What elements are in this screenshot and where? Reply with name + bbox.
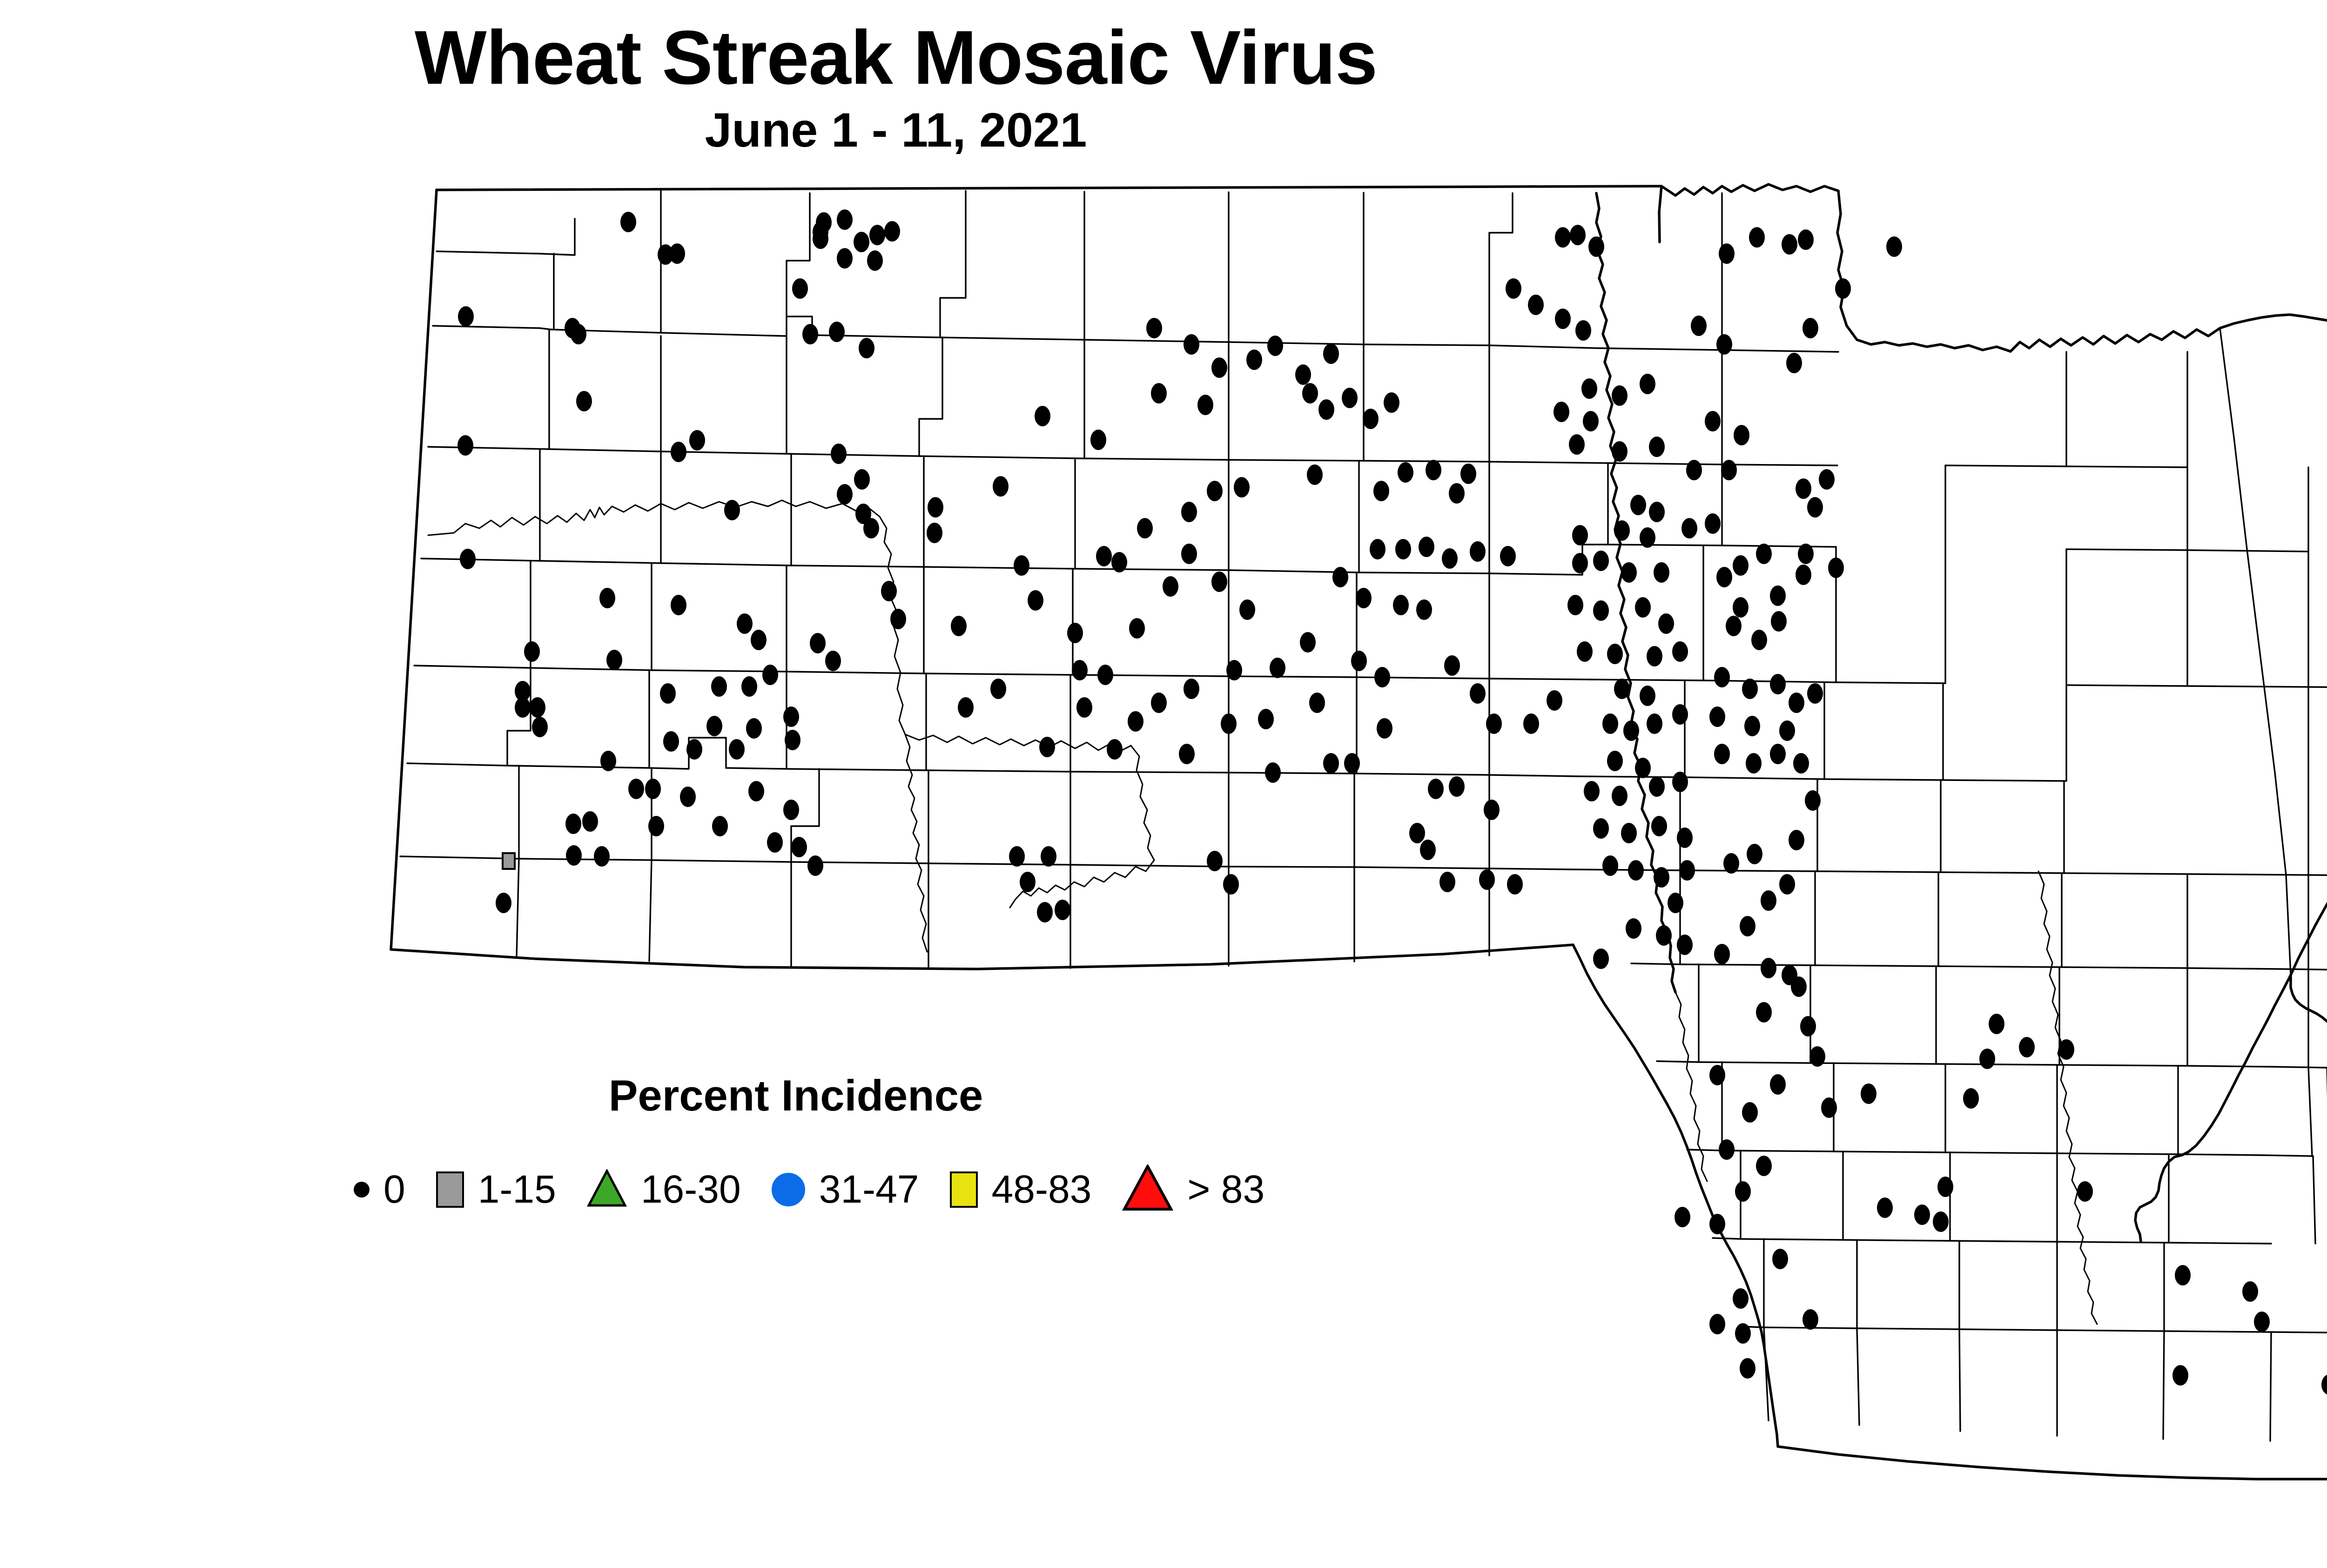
legend-items: 0 1-15 16-30 31-47 48-83	[354, 1164, 1610, 1214]
map-marker	[1207, 481, 1223, 501]
map-marker	[1020, 872, 1036, 892]
map-marker	[854, 469, 870, 490]
map-marker	[1554, 402, 1569, 422]
map-marker	[1877, 1198, 1893, 1218]
map-marker	[1295, 364, 1311, 385]
map-marker	[1420, 840, 1436, 860]
legend-item-gt-83[interactable]: > 83	[1122, 1164, 1264, 1214]
map-marker	[599, 588, 615, 608]
map-marker	[1181, 544, 1197, 564]
map-marker	[1756, 544, 1772, 564]
map-marker	[1270, 658, 1285, 678]
map-marker	[1211, 357, 1227, 378]
map-marker	[1151, 383, 1167, 404]
map-marker	[1651, 816, 1667, 836]
map-marker	[671, 442, 686, 462]
triangle-red-icon	[1122, 1164, 1173, 1214]
map-marker	[2242, 1281, 2258, 1302]
map-marker	[1612, 441, 1628, 462]
map-marker	[1756, 1002, 1772, 1023]
map-marker	[1318, 399, 1334, 420]
map-marker	[1621, 823, 1637, 843]
map-marker	[1709, 1214, 1725, 1234]
map-marker	[1377, 718, 1392, 739]
map-marker	[1234, 477, 1250, 498]
legend-item-16-30[interactable]: 16-30	[587, 1167, 741, 1212]
map-marker	[1821, 1097, 1837, 1118]
map-marker	[1593, 949, 1609, 969]
map-marker	[1470, 541, 1486, 562]
map-marker	[1740, 1358, 1755, 1379]
map-marker	[802, 324, 818, 344]
map-marker	[1373, 481, 1389, 501]
map-marker	[1786, 353, 1802, 373]
map-marker	[1332, 567, 1348, 587]
map-marker	[1184, 679, 1199, 699]
map-marker	[1302, 383, 1318, 404]
map-marker	[1344, 753, 1360, 774]
legend-item-0[interactable]: 0	[354, 1167, 405, 1212]
map-marker	[1751, 630, 1767, 650]
map-marker	[928, 497, 943, 518]
map-marker	[1223, 874, 1239, 895]
map-marker	[1444, 655, 1460, 676]
map-marker	[1716, 334, 1732, 355]
circle-small-icon	[354, 1182, 370, 1198]
legend-label-31-47: 31-47	[819, 1167, 919, 1212]
markers-layer	[457, 209, 2327, 1409]
map-marker	[1886, 236, 1902, 257]
map-marker	[576, 391, 592, 411]
map-marker	[1035, 406, 1050, 426]
map-marker	[1129, 618, 1145, 639]
map-marker	[1963, 1088, 1979, 1109]
legend-item-31-47[interactable]: 31-47	[772, 1167, 919, 1212]
map-marker	[927, 523, 942, 543]
map-marker	[1028, 590, 1043, 611]
map-marker	[825, 651, 841, 671]
map-marker	[1742, 679, 1758, 699]
map-marker	[1137, 518, 1153, 538]
map-marker	[1439, 872, 1455, 892]
map-marker	[1734, 425, 1749, 445]
map-marker	[1146, 318, 1162, 338]
map-marker	[1039, 737, 1055, 757]
map-marker	[1691, 316, 1707, 336]
map-marker	[785, 730, 800, 750]
map-marker	[1181, 502, 1197, 522]
map-marker	[783, 800, 799, 820]
map-marker	[706, 716, 722, 736]
map-marker	[1807, 497, 1823, 518]
map-marker	[1714, 744, 1730, 764]
map-marker	[1614, 679, 1630, 699]
map-marker	[1572, 553, 1588, 573]
map-marker	[1779, 874, 1795, 895]
map-marker	[1583, 411, 1599, 431]
map-marker	[1623, 720, 1639, 741]
map-marker	[628, 779, 644, 799]
map-marker	[712, 816, 728, 836]
map-marker	[1861, 1083, 1876, 1104]
map-marker	[1506, 278, 1521, 299]
map-marker	[1640, 686, 1655, 706]
map-marker	[2321, 1374, 2327, 1395]
map-marker	[680, 787, 696, 807]
triangle-green-icon	[587, 1169, 627, 1210]
map-marker	[496, 893, 511, 913]
map-marker	[1442, 548, 1458, 569]
map-marker	[524, 641, 540, 662]
map-marker	[813, 222, 828, 242]
map-marker	[1370, 539, 1385, 559]
legend-label-16-30: 16-30	[641, 1167, 741, 1212]
map-marker	[807, 855, 823, 876]
map-marker	[1819, 469, 1835, 490]
map-marker	[1782, 234, 1797, 255]
map-marker	[1090, 430, 1106, 450]
map-marker	[1072, 660, 1088, 680]
map-marker	[1221, 713, 1237, 734]
map-marker	[1709, 1065, 1725, 1085]
legend-title: Percent Incidence	[354, 1070, 1238, 1121]
map-marker	[1393, 595, 1409, 615]
map-marker	[810, 633, 826, 653]
map-marker	[671, 595, 686, 615]
map-marker	[1323, 343, 1339, 364]
map-marker	[1744, 716, 1760, 736]
map-marker	[1111, 552, 1127, 572]
map-marker	[1756, 1156, 1772, 1176]
map-marker	[1207, 851, 1223, 871]
map-marker	[867, 250, 883, 271]
map-marker	[1612, 385, 1628, 406]
map-marker	[1258, 709, 1274, 729]
map-marker	[566, 845, 582, 866]
map-marker	[686, 739, 702, 760]
map-marker	[1656, 925, 1672, 946]
map-marker	[1798, 544, 1814, 564]
map-marker	[1709, 1314, 1725, 1334]
map-marker	[1484, 800, 1500, 820]
map-marker	[1805, 790, 1821, 811]
map-marker	[884, 221, 900, 242]
map-marker	[1672, 704, 1688, 725]
map-marker	[1449, 483, 1465, 504]
map-marker	[1507, 874, 1523, 895]
map-marker	[1726, 616, 1742, 636]
map-marker	[1677, 828, 1693, 848]
map-marker	[1789, 830, 1804, 850]
map-marker	[1723, 853, 1739, 874]
map-marker	[1735, 1181, 1751, 1202]
map-marker	[958, 697, 974, 718]
map-marker	[748, 781, 764, 801]
map-marker	[1835, 278, 1851, 299]
map-marker	[1572, 525, 1588, 545]
map-marker	[1640, 527, 1655, 548]
map-marker	[648, 816, 664, 836]
map-marker	[1342, 388, 1358, 408]
map-marker	[458, 306, 474, 327]
map-marker	[1681, 518, 1697, 538]
map-marker	[457, 435, 473, 456]
map-marker	[863, 518, 879, 538]
circle-blue-icon	[772, 1173, 805, 1206]
map-marker	[1356, 588, 1372, 608]
map-marker	[1714, 667, 1730, 687]
map-marker	[1800, 1016, 1816, 1036]
map-marker	[762, 665, 778, 685]
map-marker	[1409, 823, 1425, 843]
map-marker	[837, 248, 853, 269]
map-marker	[1761, 890, 1776, 911]
map-marker	[767, 832, 783, 853]
map-marker	[1640, 374, 1655, 394]
map-marker	[1672, 772, 1688, 792]
map-marker	[645, 779, 661, 799]
map-marker	[2175, 1265, 2191, 1285]
map-marker	[1649, 502, 1665, 522]
map-marker	[669, 243, 685, 264]
map-marker	[1802, 1309, 1818, 1330]
map-marker	[993, 476, 1009, 497]
map-marker	[792, 278, 808, 299]
map-marker	[791, 837, 807, 857]
map-marker	[1809, 1046, 1825, 1067]
map-marker	[1588, 236, 1604, 257]
map-marker	[1914, 1205, 1930, 1225]
map-marker	[1770, 1074, 1786, 1095]
map-marker	[1479, 869, 1495, 890]
map-marker	[1055, 900, 1070, 920]
map-marker	[606, 650, 622, 670]
map-marker	[1733, 597, 1749, 618]
map-marker	[1416, 599, 1432, 620]
map-marker	[1796, 478, 1811, 499]
map-marker	[1239, 599, 1255, 620]
map-marker	[2019, 1037, 2035, 1057]
map-marker	[1770, 585, 1786, 606]
map-marker	[1067, 623, 1083, 643]
map-marker	[1009, 846, 1025, 867]
map-marker	[1709, 707, 1725, 727]
map-marker	[1679, 860, 1695, 881]
map-marker	[2172, 1365, 2188, 1386]
legend: Percent Incidence 0 1-15 16-30 31-47	[354, 1070, 1610, 1214]
map-marker	[1749, 227, 1765, 248]
map-marker	[1635, 597, 1651, 618]
map-marker	[1770, 744, 1786, 764]
map-marker	[1265, 762, 1281, 783]
map-marker	[663, 731, 679, 752]
legend-label-gt-83: > 83	[1187, 1167, 1264, 1212]
map-marker	[1721, 460, 1737, 480]
map-marker	[1686, 460, 1702, 480]
map-marker	[831, 444, 847, 464]
map-marker	[1802, 318, 1818, 338]
map-marker	[503, 853, 515, 869]
map-marker	[1628, 860, 1644, 881]
map-marker	[1569, 434, 1585, 455]
map-marker	[1714, 944, 1730, 964]
map-marker	[1374, 667, 1390, 687]
map-marker	[1555, 309, 1571, 329]
map-marker	[1733, 555, 1749, 576]
map-marker	[1567, 595, 1583, 615]
map-marker	[1267, 336, 1283, 356]
map-marker	[1612, 786, 1628, 806]
map-marker	[1782, 965, 1797, 985]
map-marker	[1163, 576, 1178, 597]
map-marker	[1577, 641, 1593, 662]
map-marker	[1933, 1211, 1949, 1232]
map-marker	[1602, 713, 1618, 734]
map-marker	[1528, 295, 1544, 315]
map-marker	[515, 697, 531, 718]
map-marker	[1309, 693, 1325, 713]
map-marker	[689, 430, 705, 451]
map-marker	[1523, 713, 1539, 734]
map-marker	[724, 500, 740, 520]
map-marker	[729, 739, 745, 760]
map-marker	[1128, 711, 1143, 732]
map-marker	[1740, 916, 1755, 936]
map-marker	[1654, 867, 1669, 888]
map-marker	[530, 697, 545, 718]
map-marker	[1593, 600, 1609, 621]
map-figure: Wheat Streak Mosaic Virus June 1 - 11, 2…	[0, 0, 2327, 1568]
map-marker	[854, 232, 869, 252]
map-marker	[1716, 567, 1732, 587]
map-marker	[1226, 660, 1242, 680]
map-marker	[1547, 690, 1562, 711]
legend-label-1-15: 1-15	[478, 1167, 556, 1212]
map-marker	[869, 225, 885, 245]
map-marker	[1041, 846, 1056, 867]
map-marker	[1246, 350, 1262, 370]
map-marker	[1419, 537, 1434, 557]
map-marker	[1323, 753, 1339, 774]
map-marker	[1735, 1323, 1751, 1344]
map-marker	[1761, 958, 1776, 978]
map-marker	[1798, 229, 1814, 250]
square-gray-icon	[436, 1171, 464, 1208]
legend-item-48-83[interactable]: 48-83	[950, 1167, 1092, 1212]
map-marker	[600, 751, 616, 771]
map-marker	[1793, 753, 1809, 774]
map-marker	[571, 324, 586, 344]
map-marker	[746, 718, 762, 739]
map-marker	[1363, 409, 1379, 429]
map-marker	[2254, 1312, 2270, 1332]
map-marker	[1796, 565, 1811, 585]
map-marker	[1449, 776, 1465, 797]
map-marker	[1575, 320, 1591, 341]
map-marker	[1649, 776, 1665, 797]
map-marker	[1654, 562, 1669, 583]
map-marker	[594, 846, 610, 867]
map-marker	[565, 814, 581, 834]
map-marker	[1300, 632, 1316, 653]
map-marker	[1602, 855, 1618, 876]
north-dakota-counties	[391, 186, 1661, 969]
map-marker	[1647, 713, 1662, 734]
map-marker	[1197, 395, 1213, 415]
map-marker	[737, 613, 753, 634]
map-marker	[1733, 1288, 1749, 1309]
map-marker	[1184, 334, 1199, 355]
map-marker	[2077, 1181, 2093, 1202]
map-marker	[829, 322, 845, 342]
map-marker	[1486, 713, 1502, 734]
map-marker	[1746, 753, 1762, 774]
map-marker	[1593, 551, 1609, 571]
map-marker	[1675, 1207, 1690, 1227]
map-marker	[1937, 1177, 1953, 1197]
map-marker	[1614, 520, 1630, 541]
map-marker	[1581, 378, 1597, 399]
map-marker	[532, 717, 548, 737]
map-marker	[1989, 1014, 2004, 1034]
map-marker	[660, 683, 676, 704]
map-marker	[1151, 693, 1167, 713]
map-marker	[1807, 683, 1823, 704]
map-marker	[890, 609, 906, 629]
legend-label-0: 0	[383, 1167, 405, 1212]
map-marker	[1747, 844, 1762, 864]
map-marker	[1668, 893, 1683, 913]
map-marker	[1211, 572, 1227, 592]
map-marker	[1658, 613, 1674, 634]
legend-item-1-15[interactable]: 1-15	[436, 1167, 556, 1212]
map-marker	[1705, 513, 1721, 534]
map-marker	[1398, 462, 1413, 483]
map-marker	[859, 338, 874, 358]
map-marker	[1719, 243, 1735, 264]
legend-label-48-83: 48-83	[992, 1167, 1092, 1212]
map-marker	[1107, 739, 1123, 760]
map-marker	[1789, 693, 1804, 713]
map-marker	[1426, 460, 1441, 480]
map-marker	[1979, 1049, 1995, 1069]
map-marker	[1351, 651, 1367, 671]
map-marker	[1076, 697, 1092, 718]
map-marker	[1647, 646, 1662, 666]
map-marker	[990, 679, 1006, 699]
map-marker	[1014, 555, 1029, 576]
map-marker	[837, 484, 853, 505]
map-marker	[1779, 720, 1795, 741]
map-marker	[783, 707, 799, 727]
map-marker	[1384, 392, 1399, 413]
map-marker	[1307, 464, 1323, 485]
map-marker	[1037, 902, 1053, 922]
map-marker	[837, 209, 853, 230]
map-marker	[951, 616, 967, 636]
map-marker	[1593, 818, 1609, 839]
map-marker	[1428, 779, 1444, 799]
county-map	[0, 0, 2327, 1568]
map-marker	[1828, 558, 1844, 578]
map-marker	[1649, 437, 1665, 457]
map-marker	[2058, 1039, 2074, 1060]
map-marker	[881, 581, 897, 601]
map-marker	[460, 549, 476, 569]
square-yellow-icon	[950, 1171, 978, 1208]
map-marker	[1635, 758, 1651, 778]
map-marker	[1630, 495, 1646, 515]
